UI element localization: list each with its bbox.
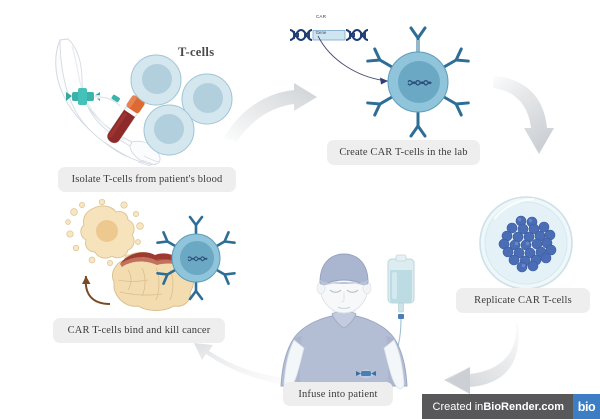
apoptosis-arrow bbox=[82, 276, 110, 304]
tcells-cluster-icon bbox=[128, 52, 238, 157]
caption-isolate: Isolate T-cells from patient's blood bbox=[58, 167, 236, 192]
tumor-apoptosis-icon bbox=[58, 200, 238, 312]
watermark-prefix: Created in bbox=[433, 401, 484, 413]
tcell bbox=[144, 105, 194, 155]
biorender-watermark: Created in BioRender.com bio bbox=[422, 394, 600, 419]
car-t-cell-icon bbox=[362, 26, 474, 138]
caption-replicate: Replicate CAR T-cells bbox=[456, 288, 590, 313]
patient-iv-infusion-icon bbox=[270, 252, 432, 388]
car-t-therapy-diagram: T-cells Isolate T-cells from patient's b… bbox=[0, 0, 600, 419]
caption-infuse: Infuse into patient bbox=[283, 382, 393, 406]
iv-bag bbox=[388, 255, 414, 319]
car-gene-top-label: CAR bbox=[296, 14, 346, 19]
caption-bind: CAR T-cells bind and kill cancer bbox=[53, 318, 225, 343]
watermark-text: Created in BioRender.com bbox=[422, 394, 573, 419]
tcell bbox=[131, 55, 181, 105]
watermark-brand: BioRender.com bbox=[483, 401, 564, 413]
biorender-logo-icon: bio bbox=[573, 394, 600, 419]
flow-arrow-create-to-replicate bbox=[492, 72, 572, 182]
caption-create: Create CAR T-cells in the lab bbox=[327, 140, 480, 165]
petri-dish-icon bbox=[478, 195, 574, 291]
